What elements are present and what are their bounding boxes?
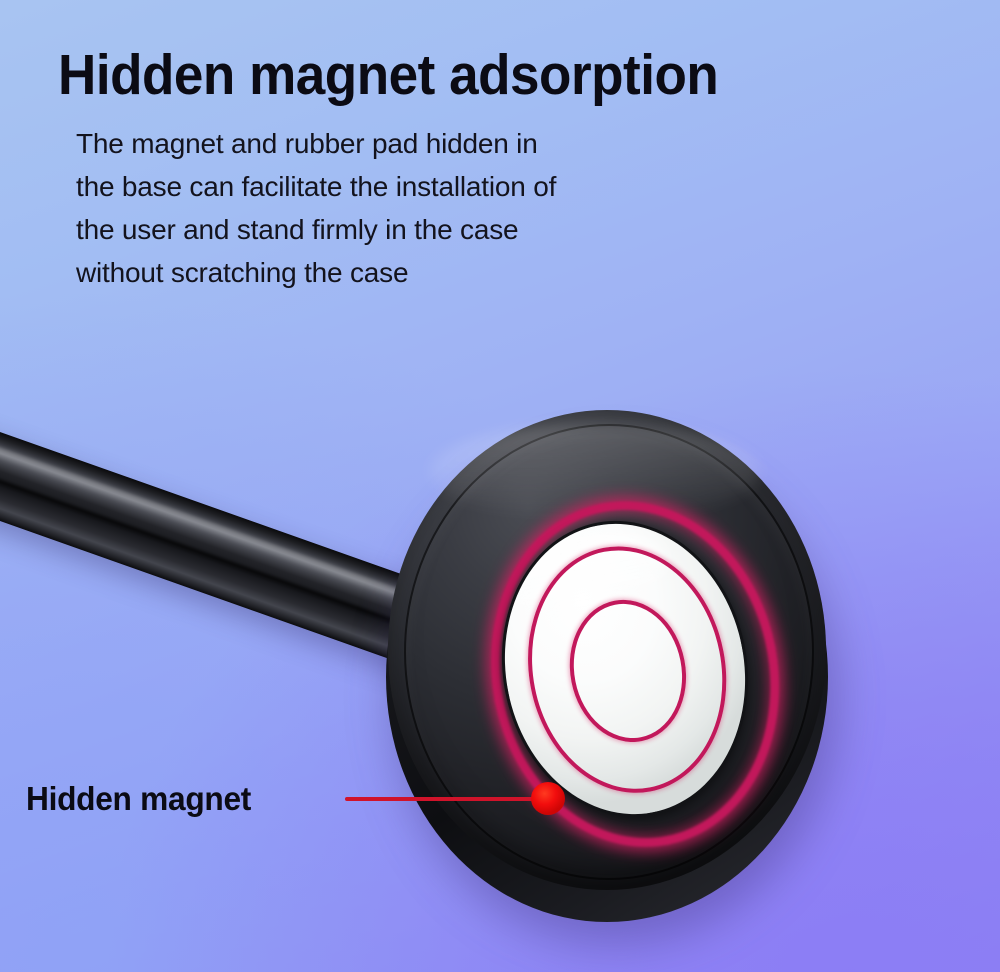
description-text: The magnet and rubber pad hidden in the …	[76, 122, 756, 294]
description-line: the base can facilitate the installation…	[76, 165, 756, 208]
description-line: without scratching the case	[76, 251, 756, 294]
description-line: The magnet and rubber pad hidden in	[76, 122, 756, 165]
product-infographic: Hidden magnet adsorption The magnet and …	[0, 0, 1000, 972]
magnet-marker-dot	[531, 782, 565, 815]
description-line: the user and stand firmly in the case	[76, 208, 756, 251]
page-title: Hidden magnet adsorption	[58, 47, 718, 104]
callout-label-hidden-magnet: Hidden magnet	[26, 780, 251, 818]
callout-leader-line	[345, 797, 553, 801]
